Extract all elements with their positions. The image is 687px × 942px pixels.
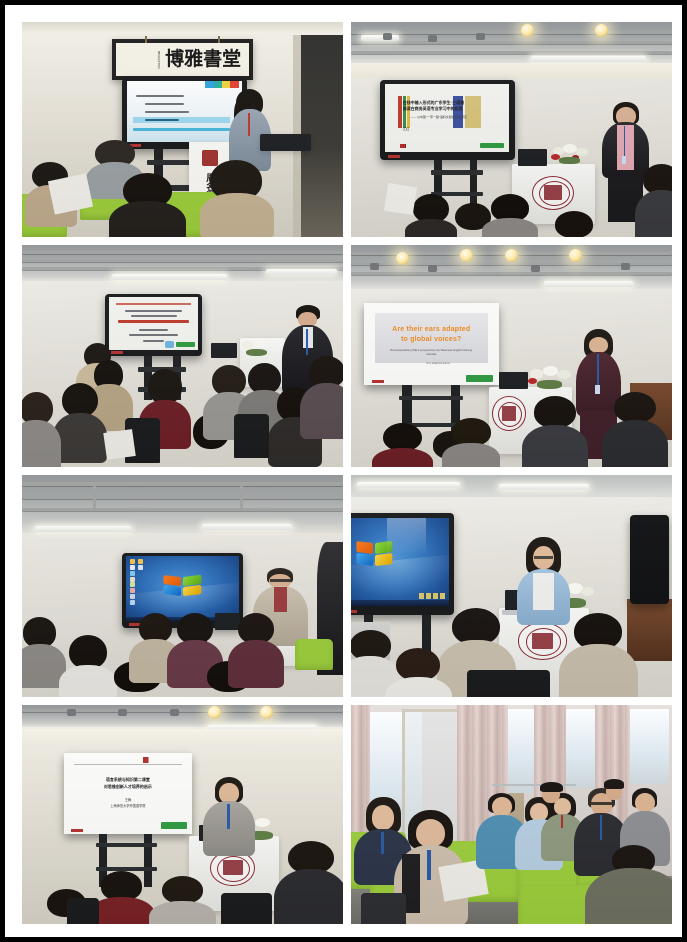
audience-head	[534, 396, 575, 428]
display-screen: 在线中输入形式的广东学生·三语测 阅读在商务英语专业学习中的应用 —— 以中国“…	[385, 84, 509, 152]
wall-display	[351, 513, 454, 615]
ceiling-tube-light	[499, 484, 589, 490]
photo-8-discussion-room-green-chairs[interactable]	[351, 705, 672, 924]
slide-presenter-name: 王梅	[82, 797, 174, 802]
side-table	[260, 134, 311, 151]
ceiling-pipe	[22, 259, 343, 262]
ceiling-pipe	[22, 251, 343, 254]
display-screen-windows-desktop	[126, 556, 238, 621]
slide-corner-badge	[176, 342, 195, 347]
audience-head	[148, 369, 181, 404]
wall-display	[105, 294, 201, 356]
ceiling-pipe-vertical	[93, 482, 96, 511]
spotlight-housing	[170, 709, 179, 716]
speaker-lanyard	[597, 354, 599, 386]
participant-bag	[361, 893, 406, 924]
audience-member	[202, 160, 273, 233]
audience-head	[383, 423, 422, 452]
photo-6-podium-windows-desktop[interactable]	[351, 475, 672, 697]
windows-taskbar[interactable]	[351, 600, 449, 606]
audience-member	[109, 173, 186, 238]
flower-red	[528, 378, 537, 384]
audience-member	[640, 164, 672, 237]
flower	[543, 366, 558, 376]
flower	[242, 341, 254, 349]
speaker-head	[219, 783, 238, 802]
plaque-hook-right	[218, 36, 220, 43]
ceiling-tube-light	[357, 482, 460, 488]
speaker-lanyard	[306, 329, 308, 354]
wall-display: 语言系统与知识第二课堂 对思维创新人才培养的启示 王梅 上海师范大学外国语学院	[64, 753, 192, 834]
slide-presenter-label: 江红	[403, 126, 410, 131]
display-shelf	[431, 170, 482, 174]
slide-title-line-2: to global voices?	[375, 336, 488, 343]
audience-shoulders	[149, 901, 216, 924]
slide-corner-badge	[466, 375, 493, 382]
desktop-icon[interactable]	[130, 571, 135, 576]
spotlight-housing	[531, 265, 540, 272]
photo-3-male-speaker-audience[interactable]	[22, 245, 343, 467]
audience-head	[614, 392, 655, 424]
desktop-icon[interactable]	[130, 600, 135, 605]
slide-bar	[398, 96, 402, 127]
flower	[255, 818, 270, 828]
ceiling-pipe	[351, 31, 672, 34]
audience-shoulders	[200, 193, 273, 237]
spotlight-housing	[476, 33, 485, 40]
ceiling-pipe	[22, 482, 343, 486]
audience-shoulders	[635, 190, 672, 237]
photo-7-chinese-slide-podium[interactable]: 语言系统与知识第二课堂 对思维创新人才培养的启示 王梅 上海师范大学外国语学院	[22, 705, 343, 924]
chair-black	[467, 670, 550, 697]
spotlight-housing	[428, 265, 437, 272]
ceiling-pipe	[22, 495, 343, 499]
audience-member	[528, 396, 583, 467]
windows-logo-icon	[164, 576, 202, 596]
foliage	[559, 157, 580, 164]
participant-hair	[540, 782, 563, 793]
slide-red-rule	[118, 320, 189, 323]
speaker-glasses-icon	[270, 579, 291, 582]
display-screen-windows-desktop	[351, 518, 449, 606]
slide-university-logo	[143, 757, 182, 763]
display-screen: Are their ears adapted to global voices?…	[364, 303, 499, 385]
desktop-icon[interactable]	[138, 565, 143, 570]
participant-person	[598, 779, 630, 823]
spotlight-housing	[67, 709, 76, 716]
audience-shoulders	[300, 383, 343, 439]
audience-member	[22, 617, 61, 684]
spotlight-housing	[370, 263, 379, 270]
slide-text-line	[139, 329, 167, 331]
slide-text-line	[143, 340, 164, 342]
flower	[576, 148, 588, 156]
audience-member	[234, 613, 279, 684]
slide-text-line	[145, 119, 180, 121]
ceiling-pipe	[351, 41, 672, 44]
speaker-scarf	[274, 587, 287, 612]
laptop-screen	[499, 372, 528, 390]
participant-head	[635, 793, 655, 812]
slide-text-line	[145, 103, 184, 105]
slide-text-line	[145, 111, 189, 113]
foliage	[246, 349, 268, 357]
slide-title-line-1: 语言系统与知识第二课堂	[82, 777, 174, 783]
ceiling-pipe	[22, 508, 343, 511]
laptop-screen	[518, 149, 547, 166]
university-emblem-icon	[492, 396, 525, 431]
slide-subtitle: Reconceptualizing WELF perspectives into…	[385, 349, 477, 357]
participant-hair	[604, 779, 625, 789]
slide-heading	[116, 303, 190, 305]
slide-text-line	[129, 334, 179, 336]
spotlight-housing	[428, 35, 437, 42]
ceiling-pipe-vertical	[240, 482, 243, 511]
emblem-core	[544, 185, 562, 200]
audience-member	[563, 613, 634, 697]
university-emblem-icon	[532, 176, 574, 210]
ceiling-spotlight	[396, 252, 409, 265]
flower	[581, 587, 594, 596]
slide-title-line-2: 阅读在商务英语专业学习中的应用	[403, 106, 475, 112]
desktop-icon[interactable]	[130, 594, 135, 599]
slide-title-line-1: Are their ears adapted	[375, 326, 488, 333]
slide-affiliation: 上海师范大学外国语学院	[82, 803, 174, 808]
desktop-icon[interactable]	[130, 588, 135, 593]
desktop-icon[interactable]	[130, 577, 135, 582]
participant-lanyard	[427, 850, 430, 881]
ceiling-tube-light	[531, 56, 647, 62]
display-brand-logo	[351, 610, 357, 613]
flower	[557, 370, 570, 379]
windows-logo-quadrant	[374, 553, 392, 566]
slide-header-rule	[74, 764, 182, 765]
audience-member	[93, 871, 151, 924]
participant-lanyard	[381, 832, 384, 854]
desktop-icon[interactable]	[130, 582, 135, 587]
participant-person	[534, 782, 569, 830]
spotlight-housing	[118, 709, 127, 716]
audience-head	[452, 418, 491, 446]
flower-bouquet	[550, 142, 595, 168]
audience-shoulders	[372, 448, 434, 467]
slide-text-line	[136, 95, 184, 97]
slide-title-line-2: 对思维创新人才培养的启示	[82, 784, 174, 790]
ceiling-tube-light	[266, 269, 337, 275]
slide-university-logo	[400, 144, 432, 149]
ceiling-tube-light	[202, 524, 292, 530]
audience-shoulders	[559, 644, 638, 697]
audience-member	[390, 648, 448, 697]
ceiling-tube-light	[361, 35, 400, 41]
ceiling-spotlight	[260, 706, 273, 719]
ceiling-pipe	[351, 51, 672, 54]
window-right	[563, 709, 598, 788]
audience-shoulders	[274, 869, 343, 924]
plaque-side-inscription: 書道題字落款	[157, 51, 160, 69]
display-brand-logo	[71, 829, 83, 832]
display-screen	[127, 81, 242, 142]
wall-display: Are their ears adapted to global voices?…	[364, 303, 499, 385]
chair-black	[67, 898, 99, 924]
photo-2-chinese-title-slide[interactable]: 在线中输入形式的广东学生·三语测 阅读在商务英语专业学习中的应用 —— 以中国“…	[351, 22, 672, 237]
photo-1-lecture-calligraphy[interactable]: 書道題字落款 博雅書堂	[22, 22, 343, 237]
plaque-hook-left	[145, 36, 147, 43]
audience-shoulders	[442, 443, 500, 467]
foliage	[537, 380, 563, 389]
audience-member	[64, 635, 112, 697]
flower	[254, 340, 266, 348]
photo-4-global-voices-slide[interactable]: Are their ears adapted to global voices?…	[351, 245, 672, 467]
window-far-right	[627, 709, 669, 783]
flower-bouquet	[528, 365, 579, 394]
speaker-badge	[622, 156, 627, 164]
emblem-core	[532, 633, 553, 649]
participant-person-foreground	[589, 845, 672, 924]
slide-text-line	[131, 315, 177, 317]
desktop-icon[interactable]	[138, 559, 143, 564]
slide-divider	[133, 128, 230, 131]
participant-head	[372, 805, 395, 830]
audience-member	[279, 841, 343, 924]
spotlight-housing	[383, 33, 392, 40]
calligraphy-plaque: 書道題字落款 博雅書堂	[112, 39, 253, 80]
plaque-characters: 博雅書堂	[165, 50, 241, 69]
display-shelf	[96, 843, 157, 847]
audience-shoulders	[522, 425, 587, 467]
taskbar-buttons[interactable]	[419, 593, 445, 598]
photo-5-windows-desktop-presenter[interactable]	[22, 475, 343, 697]
audience-member	[447, 418, 495, 467]
audience-member	[550, 211, 598, 237]
flower	[563, 144, 576, 153]
speaker-lanyard	[227, 804, 229, 829]
wall-display: 在线中输入形式的广东学生·三语测 阅读在商务英语专业学习中的应用 —— 以中国“…	[380, 80, 515, 160]
audience-member	[304, 356, 343, 436]
audience-member	[608, 392, 663, 467]
participant-head	[492, 797, 512, 816]
collage-frame: 書道題字落款 博雅書堂	[0, 0, 687, 942]
windows-logo-quadrant	[356, 542, 373, 554]
collage-mat: 書道題字落款 博雅書堂	[5, 5, 682, 937]
laptop-screen	[211, 343, 237, 359]
ceiling-tube-light	[112, 274, 228, 280]
participant-torso	[585, 868, 672, 924]
audience-shoulders	[228, 640, 284, 688]
audience-shoulders	[22, 420, 61, 467]
slide-footer-contact: fly-i-j.ian@tmut.edu.tw	[404, 362, 471, 365]
audience-member	[409, 194, 454, 237]
ceiling-spotlight	[595, 24, 608, 37]
chair-black	[234, 414, 269, 458]
display-shelf	[399, 396, 463, 400]
windows-logo-quadrant	[164, 585, 182, 596]
audience-shoulders	[482, 218, 538, 237]
wall-upper-band	[22, 729, 343, 742]
ceiling-strip	[22, 22, 343, 33]
slide-corner-badge	[161, 822, 187, 828]
display-screen	[109, 297, 198, 350]
chair-green	[295, 639, 334, 670]
speaker-top	[533, 573, 554, 610]
audience-member	[57, 383, 102, 458]
photo-grid: 書道題字落款 博雅書堂	[22, 22, 672, 918]
audience-paper	[104, 430, 136, 460]
slide-text-line	[125, 310, 182, 312]
audience-shoulders	[405, 219, 457, 237]
slide-corner-badge	[480, 143, 505, 148]
audience-head	[69, 635, 108, 670]
speaker-glasses-icon	[534, 556, 554, 559]
ceiling-tube-light	[544, 281, 634, 287]
audience-member	[486, 194, 534, 237]
chair-black	[221, 893, 272, 924]
slide-icon	[165, 341, 174, 348]
flower-bouquet	[240, 338, 279, 360]
ceiling-pipe	[351, 272, 672, 275]
speaker-lanyard	[248, 113, 250, 136]
emblem-core	[223, 860, 243, 876]
desktop-icon[interactable]	[130, 559, 135, 564]
audience-shoulders	[385, 677, 452, 697]
slide-subtitle: —— 以中国“一带一路”语料文献的证实研究	[410, 115, 482, 119]
audience-paper	[384, 183, 417, 215]
display-screen: 语言系统与知识第二课堂 对思维创新人才培养的启示 王梅 上海师范大学外国语学院	[64, 753, 192, 834]
wood-cabinet	[627, 599, 672, 661]
spotlight-housing	[621, 263, 630, 270]
university-emblem-icon	[518, 622, 567, 659]
screen-glare	[387, 518, 425, 555]
audience-shoulders	[109, 201, 186, 237]
audience-member	[22, 392, 57, 467]
speaker-person	[205, 777, 253, 851]
display-brand-logo	[388, 155, 400, 158]
windows-logo-quadrant	[183, 585, 202, 596]
audience-head	[555, 211, 594, 237]
participant-head	[416, 819, 446, 847]
windows-logo-quadrant	[356, 553, 373, 566]
display-brand-logo	[372, 380, 384, 383]
desktop-icon[interactable]	[130, 565, 135, 570]
ceiling-tube-light	[35, 526, 131, 532]
secondary-display	[630, 515, 669, 604]
emblem-core	[502, 406, 516, 421]
slide-color-strip	[205, 81, 240, 88]
audience-head	[396, 648, 440, 681]
wall-upper-band	[351, 63, 672, 78]
speaker-person	[518, 537, 569, 621]
audience-shoulders	[602, 420, 667, 467]
audience-member	[377, 423, 428, 467]
speaker-badge	[595, 385, 600, 394]
speaker-head	[589, 337, 609, 353]
speaker-lanyard	[624, 126, 626, 157]
audience-member	[154, 876, 212, 924]
